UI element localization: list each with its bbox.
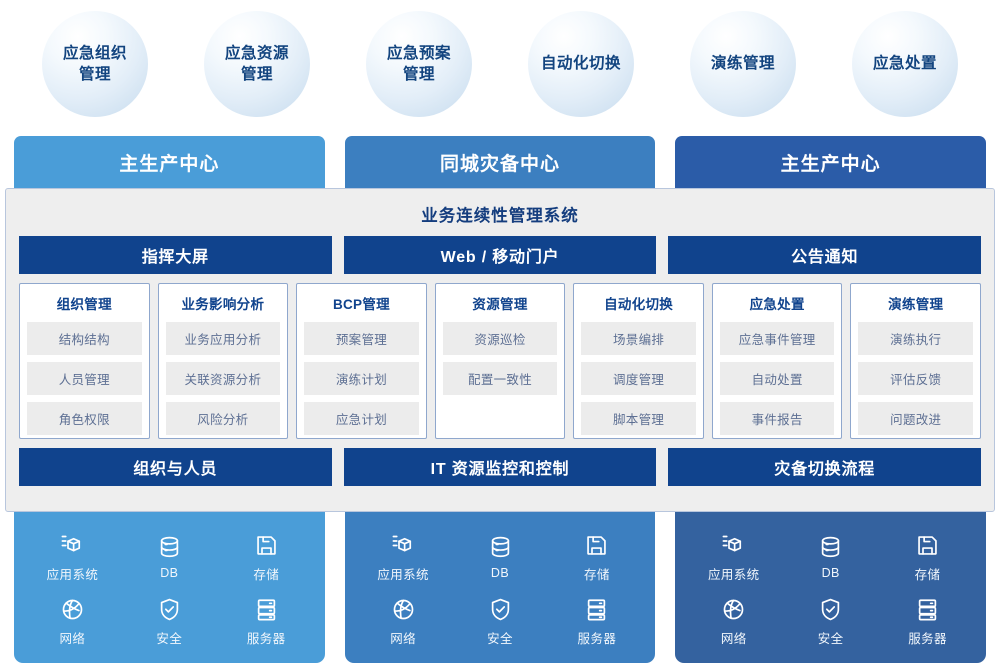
portal-band[interactable]: 指挥大屏 bbox=[19, 236, 332, 274]
infrastructure-item[interactable]: 存储 bbox=[253, 532, 280, 583]
server-icon bbox=[583, 596, 610, 623]
module-card-item[interactable]: 预案管理 bbox=[304, 322, 419, 355]
network-icon bbox=[720, 596, 747, 623]
portal-band[interactable]: Web / 移动门户 bbox=[344, 236, 657, 274]
app-system-icon bbox=[59, 532, 86, 559]
module-card-item[interactable]: 应急计划 bbox=[304, 402, 419, 435]
module-card-item[interactable]: 结构结构 bbox=[27, 322, 142, 355]
datacenter-header[interactable]: 同城灾备中心 bbox=[345, 136, 656, 188]
module-card: 资源管理资源巡检配置一致性 bbox=[435, 283, 566, 439]
infrastructure-item-label: 存储 bbox=[253, 564, 279, 583]
module-card-item[interactable]: 脚本管理 bbox=[581, 402, 696, 435]
capability-circle-label: 应急资源 bbox=[217, 43, 297, 64]
infrastructure-item-label: 应用系统 bbox=[708, 564, 760, 583]
portal-band[interactable]: 公告通知 bbox=[668, 236, 981, 274]
infrastructure-item-label: 存储 bbox=[584, 564, 610, 583]
storage-icon bbox=[914, 532, 941, 559]
capability-circle-label-2: 管理 bbox=[55, 64, 135, 85]
capability-circle-label: 应急组织 bbox=[55, 43, 135, 64]
module-card: BCP管理预案管理演练计划应急计划 bbox=[296, 283, 427, 439]
process-band[interactable]: 组织与人员 bbox=[19, 448, 332, 486]
module-card-item[interactable]: 演练执行 bbox=[858, 322, 973, 355]
capability-circle-label: 演练管理 bbox=[703, 53, 783, 74]
module-card-title: 演练管理 bbox=[858, 293, 973, 313]
module-card-row: 组织管理结构结构人员管理角色权限业务影响分析业务应用分析关联资源分析风险分析BC… bbox=[19, 283, 981, 439]
capability-circle-label: 应急处置 bbox=[865, 53, 945, 74]
module-card-item[interactable]: 人员管理 bbox=[27, 362, 142, 395]
infrastructure-item[interactable]: 安全 bbox=[156, 596, 183, 647]
capability-circle-label: 应急预案 bbox=[379, 43, 459, 64]
module-card: 业务影响分析业务应用分析关联资源分析风险分析 bbox=[158, 283, 289, 439]
storage-icon bbox=[583, 532, 610, 559]
security-icon bbox=[487, 596, 514, 623]
module-card-item[interactable]: 资源巡检 bbox=[443, 322, 558, 355]
infrastructure-item-label: 网络 bbox=[60, 628, 86, 647]
infrastructure-item-label: 安全 bbox=[487, 628, 513, 647]
capability-circle[interactable]: 应急资源管理 bbox=[204, 11, 310, 117]
capability-circle[interactable]: 演练管理 bbox=[690, 11, 796, 117]
infrastructure-item-label: 安全 bbox=[818, 628, 844, 647]
datacenter-header[interactable]: 主生产中心 bbox=[675, 136, 986, 188]
module-card-item[interactable]: 演练计划 bbox=[304, 362, 419, 395]
module-card: 组织管理结构结构人员管理角色权限 bbox=[19, 283, 150, 439]
capability-circle[interactable]: 应急处置 bbox=[852, 11, 958, 117]
security-icon bbox=[817, 596, 844, 623]
module-card-title: 自动化切换 bbox=[581, 293, 696, 313]
infrastructure-item-label: DB bbox=[491, 566, 509, 580]
infrastructure-item-label: 安全 bbox=[156, 628, 182, 647]
infrastructure-item[interactable]: 存储 bbox=[914, 532, 941, 583]
network-icon bbox=[59, 596, 86, 623]
module-card: 自动化切换场景编排调度管理脚本管理 bbox=[573, 283, 704, 439]
infrastructure-item-label: 存储 bbox=[915, 564, 941, 583]
infrastructure-item[interactable]: 安全 bbox=[487, 596, 514, 647]
infrastructure-item-label: DB bbox=[822, 566, 840, 580]
infrastructure-item[interactable]: DB bbox=[817, 534, 844, 580]
module-card-item[interactable]: 关联资源分析 bbox=[166, 362, 281, 395]
database-icon bbox=[156, 534, 183, 561]
infrastructure-panel: 应用系统DB存储网络安全服务器 bbox=[345, 512, 656, 663]
datacenter-column-headers: 主生产中心同城灾备中心主生产中心 bbox=[0, 136, 1000, 194]
infrastructure-item[interactable]: 安全 bbox=[817, 596, 844, 647]
process-band-row: 组织与人员IT 资源监控和控制灾备切换流程 bbox=[19, 448, 981, 486]
server-icon bbox=[253, 596, 280, 623]
infrastructure-item-label: 服务器 bbox=[908, 628, 947, 647]
infrastructure-item-label: 服务器 bbox=[578, 628, 617, 647]
infrastructure-item-label: 网络 bbox=[390, 628, 416, 647]
capability-circle-label-2: 管理 bbox=[379, 64, 459, 85]
module-card-title: BCP管理 bbox=[304, 293, 419, 313]
capability-circle[interactable]: 应急组织管理 bbox=[42, 11, 148, 117]
infrastructure-item-label: 应用系统 bbox=[47, 564, 99, 583]
storage-icon bbox=[253, 532, 280, 559]
infrastructure-item[interactable]: 网络 bbox=[720, 596, 747, 647]
capability-circle[interactable]: 应急预案管理 bbox=[366, 11, 472, 117]
infrastructure-panel: 应用系统DB存储网络安全服务器 bbox=[14, 512, 325, 663]
infrastructure-panel-row: 应用系统DB存储网络安全服务器应用系统DB存储网络安全服务器应用系统DB存储网络… bbox=[0, 512, 1000, 663]
module-card-item[interactable]: 风险分析 bbox=[166, 402, 281, 435]
bcm-system-title: 业务连续性管理系统 bbox=[19, 197, 981, 236]
module-card-title: 资源管理 bbox=[443, 293, 558, 313]
app-system-icon bbox=[720, 532, 747, 559]
module-card-item[interactable]: 调度管理 bbox=[581, 362, 696, 395]
infrastructure-item[interactable]: 网络 bbox=[59, 596, 86, 647]
module-card-item[interactable]: 评估反馈 bbox=[858, 362, 973, 395]
module-card-item[interactable]: 配置一致性 bbox=[443, 362, 558, 395]
module-card-item[interactable]: 事件报告 bbox=[720, 402, 835, 435]
portal-band-row: 指挥大屏Web / 移动门户公告通知 bbox=[19, 236, 981, 274]
infrastructure-item[interactable]: DB bbox=[156, 534, 183, 580]
infrastructure-item[interactable]: 存储 bbox=[583, 532, 610, 583]
module-card-item[interactable]: 自动处置 bbox=[720, 362, 835, 395]
module-card-title: 业务影响分析 bbox=[166, 293, 281, 313]
infrastructure-item[interactable]: 服务器 bbox=[908, 596, 947, 647]
module-card-title: 组织管理 bbox=[27, 293, 142, 313]
network-icon bbox=[390, 596, 417, 623]
bcm-system-container: 业务连续性管理系统 指挥大屏Web / 移动门户公告通知 组织管理结构结构人员管… bbox=[5, 188, 995, 512]
module-card-item[interactable]: 角色权限 bbox=[27, 402, 142, 435]
infrastructure-item-label: 应用系统 bbox=[377, 564, 429, 583]
infrastructure-item-label: DB bbox=[160, 566, 178, 580]
module-card-item[interactable]: 业务应用分析 bbox=[166, 322, 281, 355]
infrastructure-item[interactable]: 服务器 bbox=[247, 596, 286, 647]
security-icon bbox=[156, 596, 183, 623]
capability-circle-row: 应急组织管理应急资源管理应急预案管理自动化切换演练管理应急处置 bbox=[0, 0, 1000, 128]
module-card-item[interactable]: 应急事件管理 bbox=[720, 322, 835, 355]
module-card-title: 应急处置 bbox=[720, 293, 835, 313]
capability-circle-label: 自动化切换 bbox=[533, 53, 629, 74]
module-card: 应急处置应急事件管理自动处置事件报告 bbox=[712, 283, 843, 439]
module-card-item[interactable]: 问题改进 bbox=[858, 402, 973, 435]
datacenter-header[interactable]: 主生产中心 bbox=[14, 136, 325, 188]
infrastructure-item[interactable]: 网络 bbox=[390, 596, 417, 647]
capability-circle[interactable]: 自动化切换 bbox=[528, 11, 634, 117]
infrastructure-panel: 应用系统DB存储网络安全服务器 bbox=[675, 512, 986, 663]
infrastructure-item[interactable]: DB bbox=[487, 534, 514, 580]
database-icon bbox=[487, 534, 514, 561]
infrastructure-item[interactable]: 应用系统 bbox=[377, 532, 429, 583]
capability-circle-label-2: 管理 bbox=[217, 64, 297, 85]
infrastructure-item-label: 服务器 bbox=[247, 628, 286, 647]
process-band[interactable]: 灾备切换流程 bbox=[668, 448, 981, 486]
infrastructure-item[interactable]: 应用系统 bbox=[708, 532, 760, 583]
infrastructure-item[interactable]: 服务器 bbox=[578, 596, 617, 647]
module-card-item[interactable]: 场景编排 bbox=[581, 322, 696, 355]
app-system-icon bbox=[390, 532, 417, 559]
infrastructure-item[interactable]: 应用系统 bbox=[47, 532, 99, 583]
infrastructure-item-label: 网络 bbox=[721, 628, 747, 647]
database-icon bbox=[817, 534, 844, 561]
server-icon bbox=[914, 596, 941, 623]
process-band[interactable]: IT 资源监控和控制 bbox=[344, 448, 657, 486]
module-card: 演练管理演练执行评估反馈问题改进 bbox=[850, 283, 981, 439]
